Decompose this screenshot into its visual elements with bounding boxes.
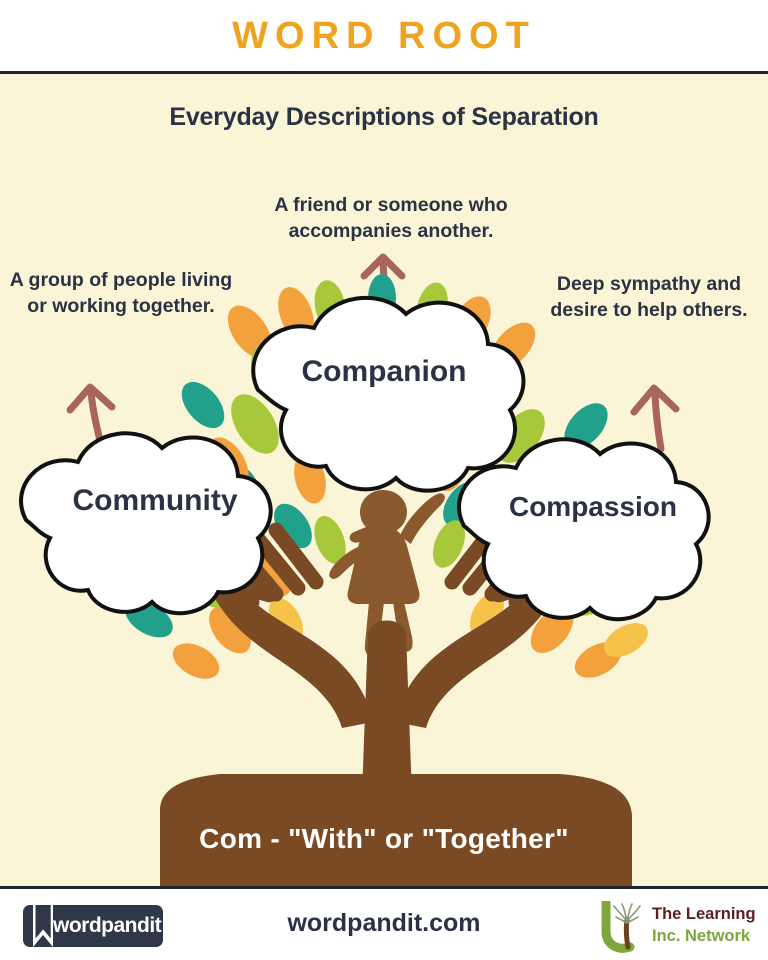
tree-illustration — [0, 74, 768, 886]
page-title: WORD ROOT — [232, 17, 536, 55]
cloud-community — [21, 433, 271, 613]
tree-u-icon — [600, 901, 648, 953]
cloud-companion — [253, 298, 523, 491]
header-bar: WORD ROOT — [0, 0, 768, 74]
learning-inc-network-logo[interactable]: The Learning Inc. Network — [600, 901, 750, 953]
learning-logo-line2: Inc. Network — [652, 927, 750, 946]
root-word-banner-text: Com - "With" or "Together" — [0, 823, 768, 855]
word-root-infographic: WORD ROOT Everyday Descriptions of Separ… — [0, 0, 768, 960]
learning-logo-line1: The Learning — [652, 905, 756, 924]
arrow-up-compassion — [634, 388, 676, 449]
footer-bar: wordpandit wordpandit.com The Learning I… — [0, 886, 768, 960]
